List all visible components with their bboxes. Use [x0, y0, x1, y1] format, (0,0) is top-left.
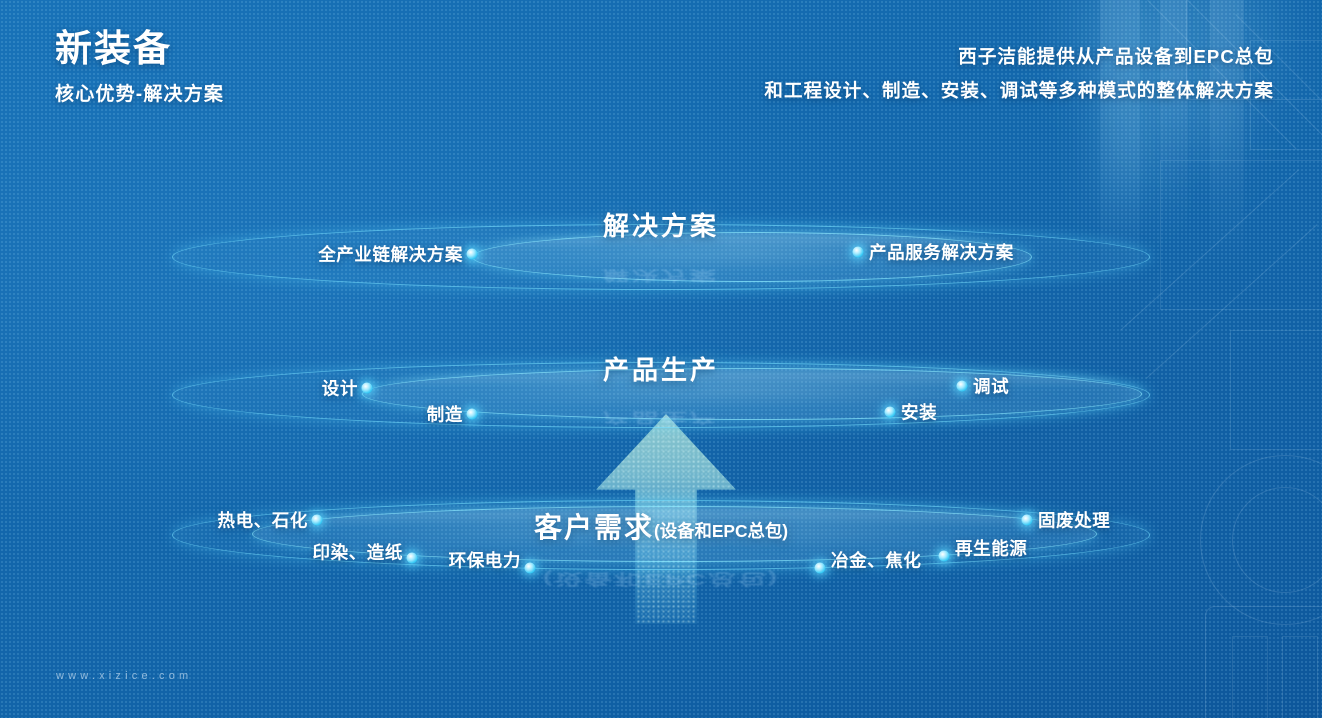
layer-node-dot[interactable] [525, 563, 536, 574]
footer-website: www.xizice.com [56, 670, 192, 682]
diagram-layer-solutions[interactable]: 解决方案 解决方案 全产业链解决方案 产品服务解决方案 [172, 224, 1150, 290]
page-title: 新装备 [55, 28, 224, 69]
layer-node-label: 产品服务解决方案 [869, 240, 1014, 265]
layer-center-title-reflection: 解决方案 [172, 266, 1150, 286]
bg-outline-rect [1230, 330, 1322, 450]
layer-node-dot[interactable] [467, 249, 478, 260]
bg-diagonal-line [1146, 224, 1318, 379]
bg-outline-rect [1282, 636, 1318, 718]
layer-node-dot[interactable] [1022, 515, 1033, 526]
layer-center-title-text: 产品生产 [603, 355, 719, 385]
layer-node-dot[interactable] [467, 409, 478, 420]
header-tagline: 西子洁能提供从产品设备到EPC总包 和工程设计、制造、安装、调试等多种模式的整体… [764, 40, 1274, 108]
layer-node-dot[interactable] [312, 515, 323, 526]
layer-center-title-reflection: (设备和EPC总包) [172, 569, 1150, 591]
layer-node-dot[interactable] [853, 247, 864, 258]
layer-node-label: 制造 [427, 402, 463, 427]
layer-node-dot[interactable] [815, 563, 826, 574]
tagline-line-2: 和工程设计、制造、安装、调试等多种模式的整体解决方案 [764, 74, 1274, 108]
tagline-line-1: 西子洁能提供从产品设备到EPC总包 [764, 40, 1274, 74]
layer-node-label: 再生能源 [955, 536, 1027, 561]
layer-center-title-reflection: 产品生产 [172, 408, 1150, 428]
layer-node-label: 冶金、焦化 [831, 548, 922, 573]
slide-canvas: 新装备 核心优势-解决方案 西子洁能提供从产品设备到EPC总包 和工程设计、制造… [0, 0, 1322, 718]
layer-node-dot[interactable] [957, 381, 968, 392]
bg-outline-rect [1160, 160, 1322, 310]
layer-node-label: 安装 [901, 400, 937, 425]
layer-node-label: 印染、造纸 [313, 540, 404, 565]
layer-node-label: 热电、石化 [218, 508, 309, 533]
bg-outline-circle [1200, 455, 1322, 625]
layer-node-label: 设计 [322, 376, 358, 401]
layer-node-label: 固废处理 [1038, 508, 1110, 533]
layer-node-dot[interactable] [939, 551, 950, 562]
page-subtitle: 核心优势-解决方案 [55, 79, 224, 106]
layer-node-label: 环保电力 [449, 548, 521, 573]
layer-node-dot[interactable] [407, 553, 418, 564]
layer-node-label: 调试 [973, 374, 1009, 399]
layer-node-label: 全产业链解决方案 [318, 242, 463, 267]
layer-center-title-suffix: (设备和EPC总包) [654, 521, 788, 541]
bg-outline-rect [1205, 606, 1322, 718]
header-left: 新装备 核心优势-解决方案 [55, 28, 224, 106]
bg-outline-rect [1232, 636, 1268, 718]
bg-building-silhouette [1160, 0, 1188, 240]
layer-center-title-text: 解决方案 [603, 211, 719, 241]
diagram-layer-customer-demand[interactable]: 客户需求(设备和EPC总包) (设备和EPC总包) 热电、石化 印染、造纸 环保… [172, 500, 1150, 570]
bg-outline-circle [1232, 487, 1322, 593]
layer-center-title: 解决方案 [172, 206, 1150, 243]
layer-center-title-text: 客户需求 [534, 512, 654, 543]
diagram-layer-production[interactable]: 产品生产 产品生产 设计 制造 安装 调试 [172, 362, 1150, 428]
layer-node-dot[interactable] [362, 383, 373, 394]
layer-node-dot[interactable] [885, 407, 896, 418]
